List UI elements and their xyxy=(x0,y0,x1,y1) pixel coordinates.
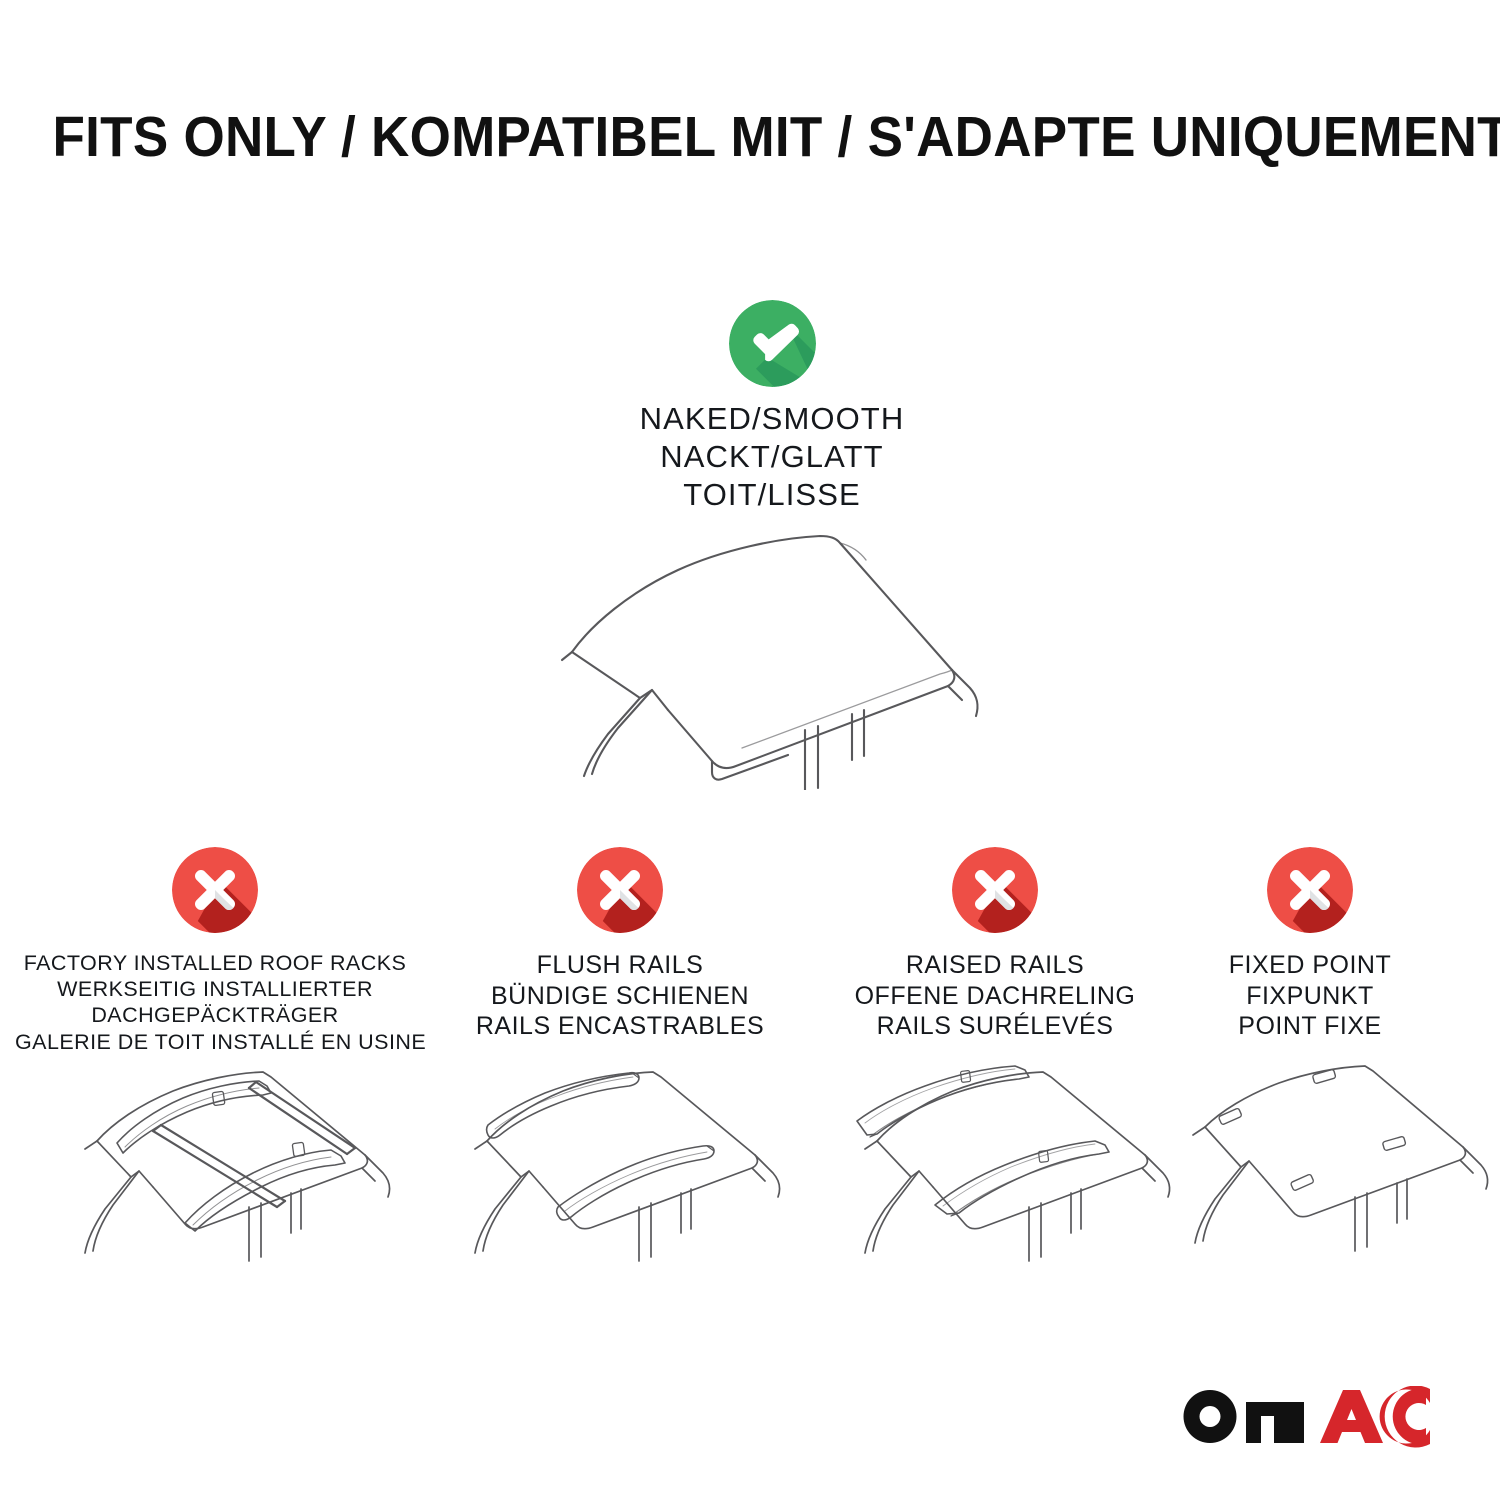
label-line-3: POINT FIXE xyxy=(1140,1011,1480,1042)
x-circle-icon xyxy=(577,847,663,933)
label-line-3: DACHGEPÄCKTRÄGER xyxy=(15,1002,415,1028)
flush-rails-roof-illustration xyxy=(425,1055,815,1285)
logo-letter-o xyxy=(1184,1390,1237,1443)
page-title: FITS ONLY / KOMPATIBEL MIT / S'ADAPTE UN… xyxy=(53,104,1448,170)
incompatible-label-fixed-point: FIXED POINT FIXPUNKT POINT FIXE xyxy=(1140,950,1480,1042)
label-line-1: RAISED RAILS xyxy=(815,950,1175,981)
check-circle-icon xyxy=(729,300,816,387)
label-line-2: BÜNDIGE SCHIENEN xyxy=(440,981,800,1012)
incompatible-label-raised-rails: RAISED RAILS OFFENE DACHRELING RAILS SUR… xyxy=(815,950,1175,1042)
label-line-1: FACTORY INSTALLED ROOF RACKS xyxy=(15,950,415,976)
x-circle-icon xyxy=(1267,847,1353,933)
x-circle-icon xyxy=(952,847,1038,933)
naked-smooth-roof-illustration xyxy=(500,520,1020,790)
label-line-1: FIXED POINT xyxy=(1140,950,1480,981)
incompatible-label-flush-rails: FLUSH RAILS BÜNDIGE SCHIENEN RAILS ENCAS… xyxy=(440,950,800,1042)
incompatible-label-factory-racks: FACTORY INSTALLED ROOF RACKS WERKSEITIG … xyxy=(15,950,415,1055)
compatibility-infographic: FITS ONLY / KOMPATIBEL MIT / S'ADAPTE UN… xyxy=(0,0,1500,1500)
label-line-2: OFFENE DACHRELING xyxy=(815,981,1175,1012)
label-line-2: FIXPUNKT xyxy=(1140,981,1480,1012)
x-circle-icon xyxy=(172,847,258,933)
compatible-line-2: NACKT/GLATT xyxy=(522,438,1022,476)
raised-rails-roof-illustration xyxy=(815,1055,1205,1285)
factory-roof-rack-illustration xyxy=(35,1055,425,1285)
omac-logo xyxy=(1180,1386,1430,1448)
label-line-3: RAILS ENCASTRABLES xyxy=(440,1011,800,1042)
compatible-line-3: TOIT/LISSE xyxy=(522,476,1022,514)
label-line-4: GALERIE DE TOIT INSTALLÉ EN USINE xyxy=(15,1029,415,1055)
compatible-label: NAKED/SMOOTH NACKT/GLATT TOIT/LISSE xyxy=(522,400,1022,513)
label-line-1: FLUSH RAILS xyxy=(440,950,800,981)
compatible-line-1: NAKED/SMOOTH xyxy=(522,400,1022,438)
logo-letter-a xyxy=(1320,1390,1383,1443)
label-line-3: RAILS SURÉLEVÉS xyxy=(815,1011,1175,1042)
fixed-point-roof-illustration xyxy=(1165,1055,1500,1285)
label-line-2: WERKSEITIG INSTALLIERTER xyxy=(15,976,415,1002)
